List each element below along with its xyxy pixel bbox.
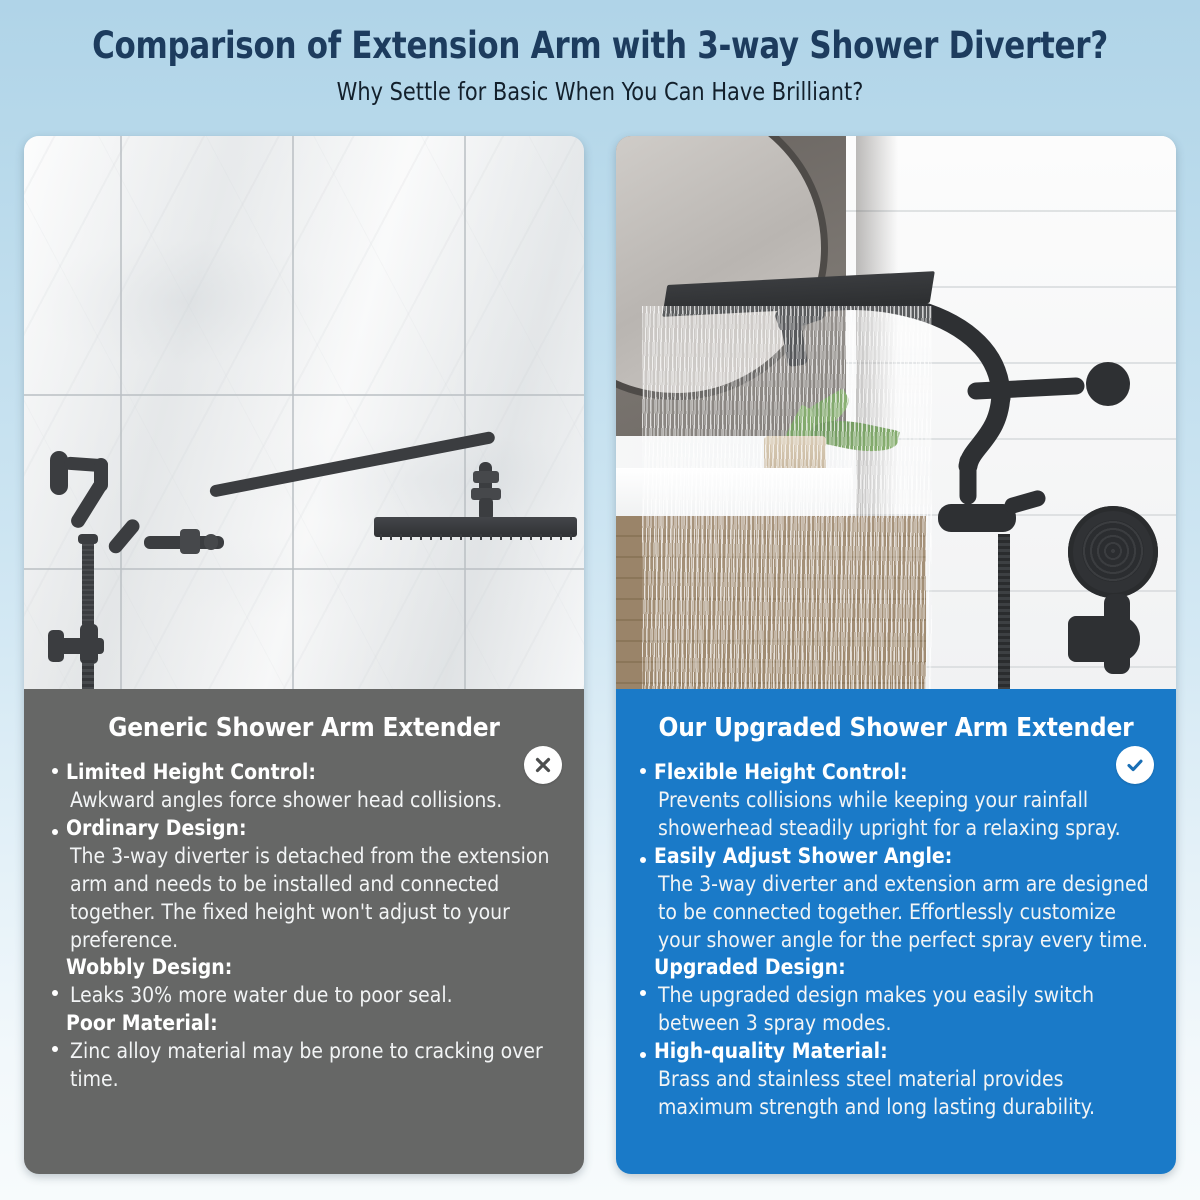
comparison-card-upgraded: Our Upgraded Shower Arm Extender Flexibl… (616, 136, 1176, 1174)
upgraded-product-photo (616, 136, 1176, 689)
feature-body: Prevents collisions while keeping your r… (654, 787, 1162, 843)
bullet-icon (640, 857, 646, 863)
bullet-icon (52, 768, 58, 774)
list-item: Poor Material: Zinc alloy material may b… (52, 1010, 568, 1094)
handheld-hose (998, 534, 1010, 689)
feature-heading: Flexible Height Control: (654, 759, 1162, 787)
shower-hose (82, 660, 94, 689)
list-item: Ordinary Design: The 3-way diverter is d… (52, 815, 568, 955)
generic-product-photo (24, 136, 584, 689)
list-item: High-quality Material: Brass and stainle… (640, 1038, 1162, 1122)
feature-body: The upgraded design makes you easily swi… (654, 982, 1162, 1038)
feature-body: Zinc alloy material may be prone to crac… (66, 1038, 568, 1094)
generic-info-panel: Generic Shower Arm Extender Limited Heig… (24, 689, 584, 1174)
bullet-icon (640, 1052, 646, 1058)
head-connector (473, 471, 499, 483)
list-item: Limited Height Control: Awkward angles f… (52, 759, 568, 815)
bullet-icon (640, 768, 646, 774)
comparison-card-generic: Generic Shower Arm Extender Limited Heig… (24, 136, 584, 1174)
bullet-icon (640, 990, 646, 996)
list-item: Easily Adjust Shower Angle: The 3-way di… (640, 843, 1162, 955)
bathroom-scene (616, 136, 1176, 689)
water-spray-lower (656, 466, 921, 689)
feature-body: Leaks 30% more water due to poor seal. (66, 982, 568, 1010)
feature-heading: Easily Adjust Shower Angle: (654, 843, 1162, 871)
feature-body: The 3-way diverter and extension arm are… (654, 871, 1162, 955)
upgraded-info-panel: Our Upgraded Shower Arm Extender Flexibl… (616, 689, 1176, 1174)
feature-heading: Ordinary Design: (66, 815, 568, 843)
generic-feature-list: Limited Height Control: Awkward angles f… (24, 743, 584, 1094)
upgraded-feature-list: Flexible Height Control: Prevents collis… (616, 743, 1176, 1122)
bullet-icon (52, 1046, 58, 1052)
page-subtitle: Why Settle for Basic When You Can Have B… (42, 67, 1158, 106)
list-item: Flexible Height Control: Prevents collis… (640, 759, 1162, 843)
feature-heading: Upgraded Design: (654, 954, 1162, 982)
bullet-icon (52, 990, 58, 996)
list-item: Wobbly Design: Leaks 30% more water due … (52, 954, 568, 1010)
upgraded-panel-title: Our Upgraded Shower Arm Extender (616, 689, 1176, 743)
page-title: Comparison of Extension Arm with 3-way S… (42, 0, 1158, 67)
bullet-icon (52, 829, 58, 835)
feature-heading: High-quality Material: (654, 1038, 1162, 1066)
list-item: Upgraded Design: The upgraded design mak… (640, 954, 1162, 1038)
page-header: Comparison of Extension Arm with 3-way S… (0, 0, 1200, 130)
feature-body: Brass and stainless steel material provi… (654, 1066, 1162, 1122)
generic-panel-title: Generic Shower Arm Extender (24, 689, 584, 743)
feature-body: Awkward angles force shower head collisi… (66, 787, 568, 815)
handheld-cradle (1068, 616, 1140, 662)
feature-body: The 3-way diverter is detached from the … (66, 843, 568, 955)
feature-heading: Limited Height Control: (66, 759, 568, 787)
feature-heading: Poor Material: (66, 1010, 568, 1038)
marble-veining (24, 136, 584, 689)
feature-heading: Wobbly Design: (66, 954, 568, 982)
arm-swivel-joint (180, 529, 200, 554)
